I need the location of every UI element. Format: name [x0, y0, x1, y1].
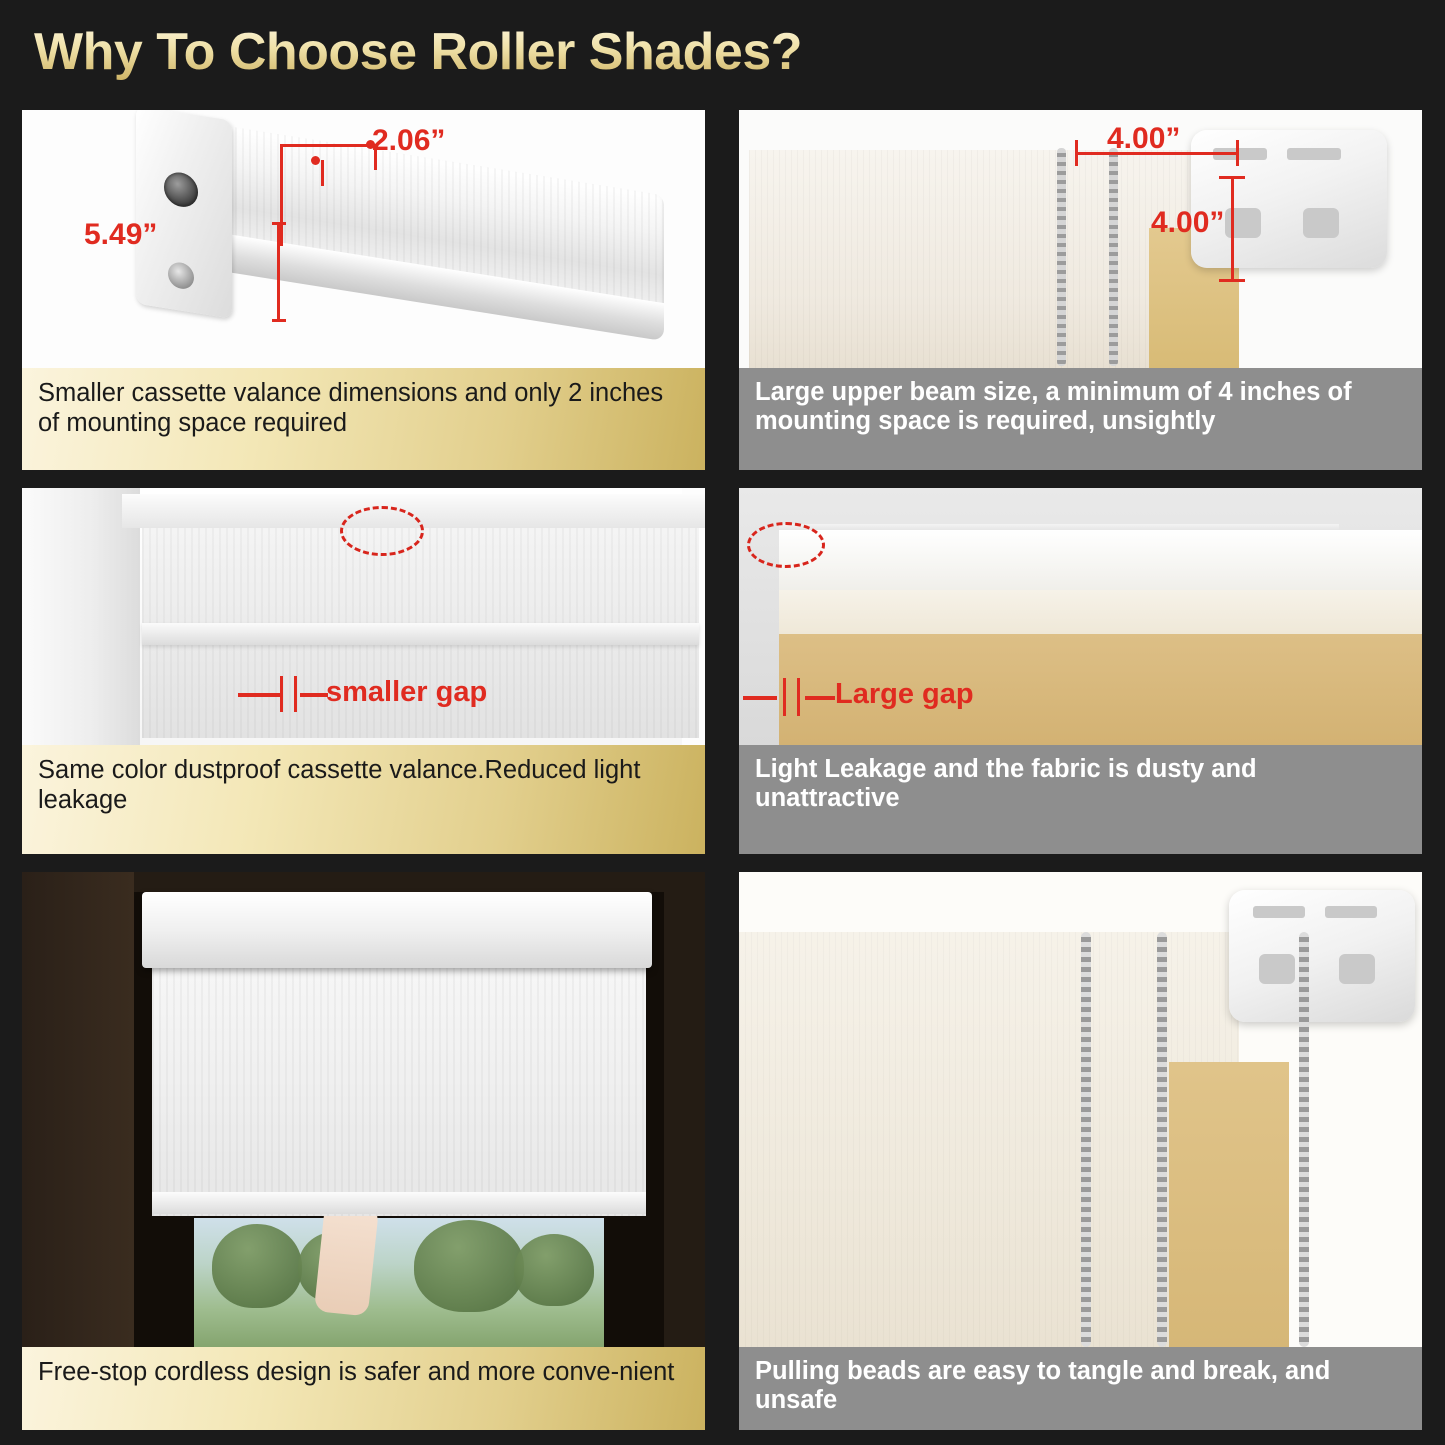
valance-end-cap [136, 110, 232, 319]
page-title: Why To Choose Roller Shades? [34, 22, 802, 82]
beam-width-tick-left [1075, 140, 1078, 166]
highlight-ellipse [340, 506, 424, 556]
dimension-line-vertical-height [277, 222, 280, 322]
highlight-ellipse [747, 522, 825, 568]
dimension-tick-top [272, 222, 286, 225]
beam-fabric [749, 150, 1199, 368]
beam-depth-label: 4.00” [1151, 206, 1224, 240]
gap-arrow-right [300, 693, 328, 697]
gap-tick-2 [294, 676, 297, 712]
screw-icon [168, 261, 194, 291]
beads-fabric-tan [1169, 1062, 1289, 1347]
beam-slot-1 [1253, 906, 1305, 918]
panel-cassette-valance-dimensions: 2.06” 5.49” Smaller cassette valance dim… [22, 110, 705, 470]
bead-chain-right [1109, 148, 1118, 366]
beam-depth-tick-bottom [1219, 279, 1245, 282]
beam-bracket-1 [1259, 954, 1295, 984]
header-board [779, 530, 1422, 590]
panel-1-caption: Smaller cassette valance dimensions and … [22, 368, 705, 470]
gap-tick-1 [280, 676, 283, 712]
smaller-gap-label: smaller gap [326, 676, 487, 709]
tree-3 [414, 1220, 524, 1312]
gap-arrow-left [238, 693, 280, 697]
photo-dustproof-cassette: smaller gap [22, 488, 705, 745]
fabric-light-band [779, 590, 1422, 634]
dimension-tick-bottom [272, 319, 286, 322]
gap-arrow-right [805, 696, 835, 700]
panel-cordless-design: Free-stop cordless design is safer and m… [22, 872, 705, 1430]
gap-tick-2 [797, 678, 800, 716]
panel-grid: 2.06” 5.49” Smaller cassette valance dim… [22, 110, 1422, 1430]
bead-chain-right [1299, 932, 1309, 1347]
window-opening [134, 892, 664, 1347]
photo-pulling-beads [739, 872, 1422, 1347]
photo-light-leakage: Large gap [739, 488, 1422, 745]
photo-cordless-window [22, 872, 705, 1347]
shade-bottom-bar [152, 1192, 646, 1214]
height-dimension-label: 5.49” [84, 218, 157, 252]
room-wall-left [22, 872, 134, 1347]
panel-pulling-beads: Pulling beads are easy to tangle and bre… [739, 872, 1422, 1430]
mounting-hole-icon [164, 170, 198, 209]
dimension-endpoint-dot-a [311, 156, 320, 165]
beam-bracket-2 [1303, 208, 1339, 238]
panel-2-caption: Large upper beam size, a minimum of 4 in… [739, 368, 1422, 470]
panel-5-caption: Free-stop cordless design is safer and m… [22, 1347, 705, 1430]
large-gap-label: Large gap [835, 678, 974, 711]
outdoor-view [194, 1218, 604, 1347]
beam-slot-2 [1287, 148, 1341, 160]
panel-dustproof-cassette: smaller gap Same color dustproof cassett… [22, 488, 705, 854]
product-infographic: Why To Choose Roller Shades? [0, 0, 1445, 1445]
bead-chain-middle [1157, 932, 1167, 1347]
beam-fabric-texture [749, 150, 1199, 368]
beads-upper-beam [1229, 890, 1415, 1022]
beam-width-tick-right [1236, 140, 1239, 166]
panel-light-leakage: Large gap Light Leakage and the fabric i… [739, 488, 1422, 854]
panel-4-caption: Light Leakage and the fabric is dusty an… [739, 745, 1422, 854]
beam-width-label: 4.00” [1107, 122, 1180, 156]
tree-4 [514, 1234, 594, 1306]
photo-large-beam: 4.00” 4.00” [739, 110, 1422, 368]
bead-chain-left [1081, 932, 1091, 1347]
upper-beam-body [1191, 130, 1387, 268]
beam-depth-tick-top [1219, 176, 1245, 179]
width-dimension-label: 2.06” [372, 124, 445, 158]
gap-arrow-left [743, 696, 777, 700]
gap-tick-1 [783, 678, 786, 716]
dimension-line-vertical-left [280, 146, 283, 246]
beam-depth-line [1231, 176, 1234, 282]
cassette-valance [142, 892, 652, 968]
shade-middle-rail [142, 623, 699, 645]
panel-large-upper-beam: 4.00” 4.00” Large upper beam size, a min… [739, 110, 1422, 470]
panel-6-caption: Pulling beads are easy to tangle and bre… [739, 1347, 1422, 1430]
beam-bracket-2 [1339, 954, 1375, 984]
dimension-line-top [280, 144, 375, 147]
beam-slot-2 [1325, 906, 1377, 918]
bead-chain-left [1057, 148, 1066, 366]
photo-cassette-valance: 2.06” 5.49” [22, 110, 705, 368]
tree-1 [212, 1224, 302, 1308]
dimension-tick-a [321, 160, 324, 186]
panel-3-caption: Same color dustproof cassette valance.Re… [22, 745, 705, 854]
